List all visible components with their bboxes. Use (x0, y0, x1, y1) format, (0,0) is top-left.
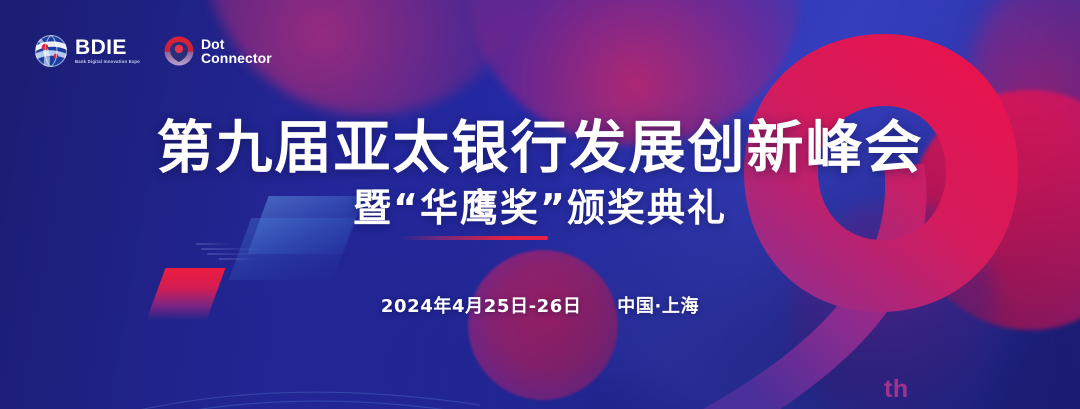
event-location: 中国·上海 (617, 296, 699, 317)
dot-connector-line-2: Connector (201, 51, 272, 65)
globe-icon (34, 34, 68, 68)
logo-bar: BDIE Bank Digital Innovation Expo (34, 34, 272, 68)
edition-ordinal-suffix: th (884, 375, 909, 404)
logo-dot-connector[interactable]: Dot Connector (164, 36, 272, 66)
bdie-tagline: Bank Digital Innovation Expo (75, 60, 140, 64)
event-banner: th BDIE (0, 0, 1080, 409)
event-subtitle: 暨“华鹰奖”颁奖典礼 (0, 188, 1080, 230)
title-underline-rule (398, 236, 548, 240)
dot-connector-circle-icon (164, 36, 194, 66)
dot-connector-logo-text: Dot Connector (201, 37, 272, 66)
logo-bdie[interactable]: BDIE Bank Digital Innovation Expo (34, 34, 140, 68)
bdie-logo-text: BDIE Bank Digital Innovation Expo (75, 37, 140, 64)
event-title: 第九届亚太银行发展创新峰会 (0, 118, 1080, 178)
event-date: 2024年4月25日-26日 (381, 296, 582, 317)
headline-block: 第九届亚太银行发展创新峰会 暨“华鹰奖”颁奖典礼 (0, 118, 1080, 230)
dot-connector-line-1: Dot (201, 37, 272, 51)
decorative-microtext (196, 243, 272, 265)
bdie-name: BDIE (75, 37, 140, 58)
event-meta: 2024年4月25日-26日 中国·上海 (0, 292, 1080, 318)
